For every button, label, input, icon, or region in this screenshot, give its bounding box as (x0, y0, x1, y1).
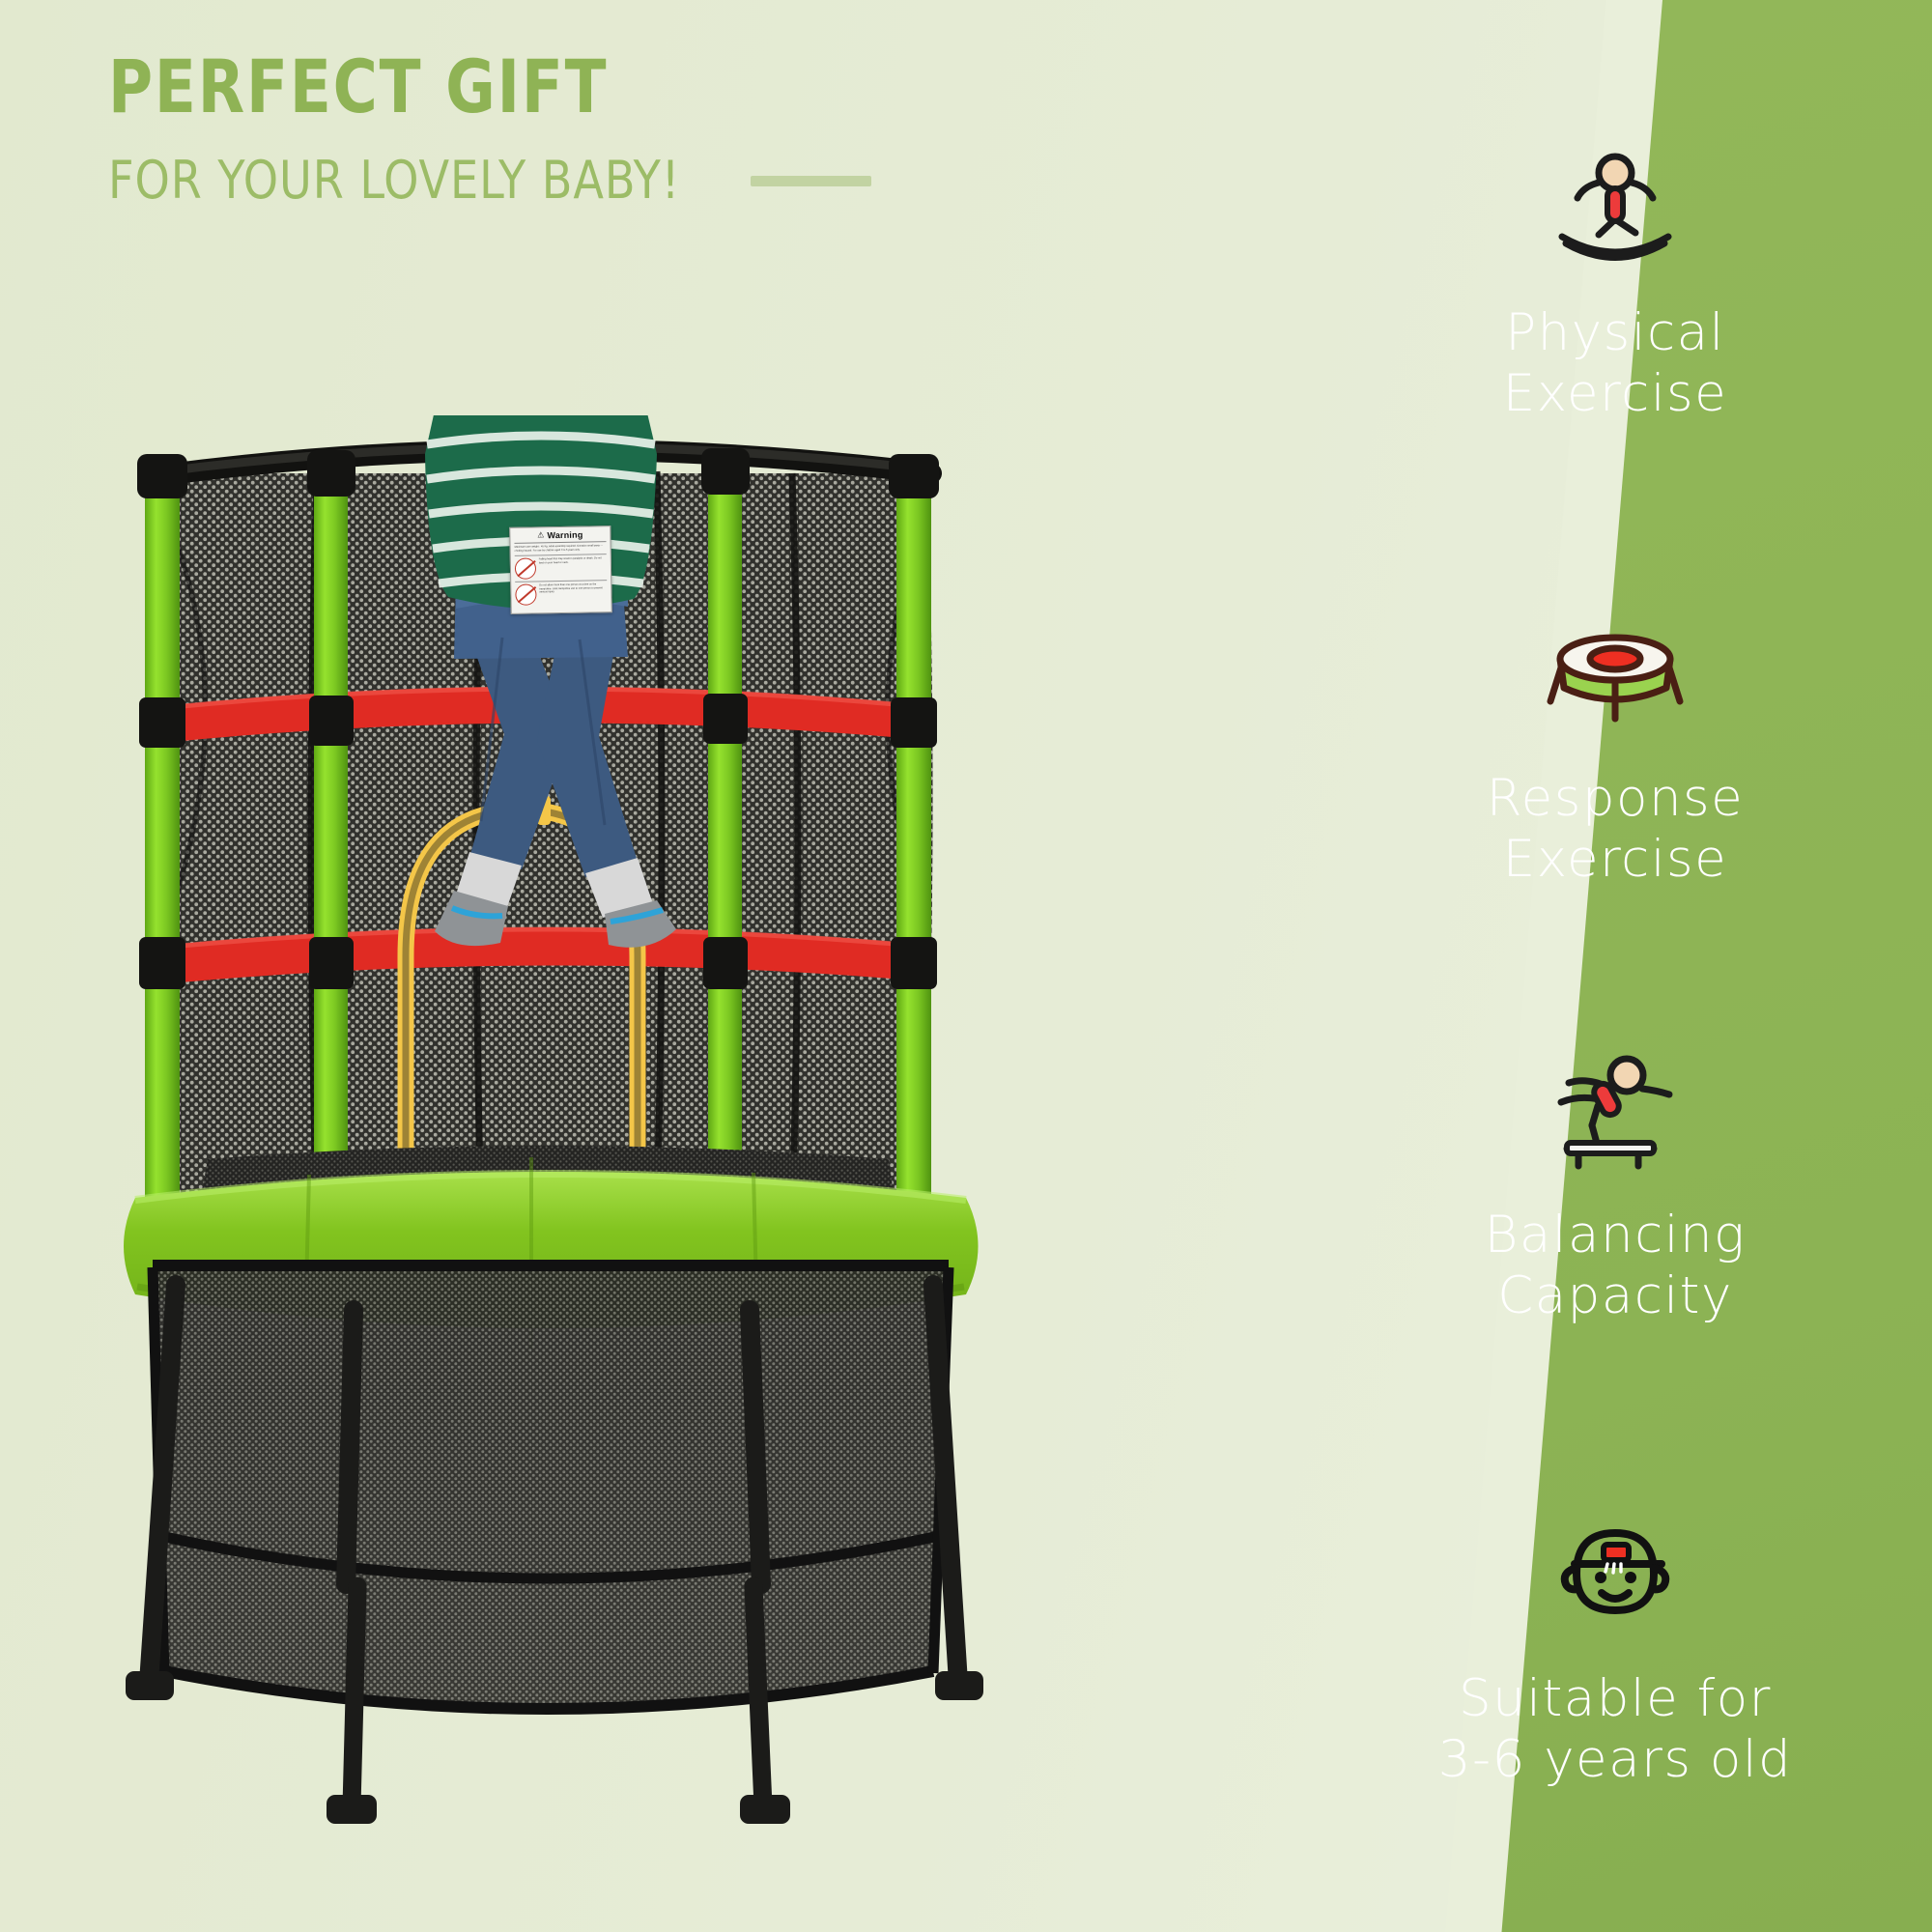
feature-label-line: Exercise (1503, 364, 1728, 425)
no-somersault-icon (515, 557, 536, 579)
feature-label-line: Suitable for (1438, 1669, 1792, 1730)
trampoline-top-view-icon (1543, 609, 1688, 744)
warning-label: ⚠ Warning Maximum user weight : 45 Kg. A… (509, 526, 612, 614)
feature-label: Suitable for 3-6 years old (1438, 1669, 1792, 1790)
feature-label: Response Exercise (1487, 769, 1745, 890)
warning-row-text: Do not allow more than one person at a t… (539, 582, 607, 605)
child-face-with-cap-icon (1548, 1509, 1683, 1644)
feature-label-line: Capacity (1485, 1266, 1747, 1327)
feature-label: Physical Exercise (1503, 303, 1728, 424)
feature-list: Physical Exercise Resp (1198, 0, 1932, 1932)
person-balancing-on-beam-icon (1538, 1045, 1692, 1180)
warning-label-header: ⚠ Warning (514, 529, 606, 544)
feature-label-line: Physical (1503, 303, 1728, 364)
feature-label-line: Response (1487, 769, 1745, 830)
warning-label-body: Maximum user weight : 45 Kg. Adult assem… (515, 544, 607, 553)
feature-label-line: Balancing (1485, 1206, 1747, 1266)
headline-title: PERFECT GIFT (108, 50, 810, 124)
no-multiple-users-icon (515, 583, 536, 605)
product-photo-trampoline: Homcom (116, 415, 1140, 1864)
feature-item-response-exercise: Response Exercise (1345, 609, 1886, 890)
child-jeans (454, 568, 638, 877)
headline-decorative-rule (751, 176, 871, 186)
headline-subtitle-row: FOR YOUR LOVELY BABY! (108, 155, 871, 207)
warning-row-text: Falling head-first may result in paralys… (539, 556, 607, 579)
feature-label-line: 3-6 years old (1438, 1730, 1792, 1791)
feature-label-line: Exercise (1487, 830, 1745, 891)
feature-item-physical-exercise: Physical Exercise (1345, 143, 1886, 424)
child-jumping-figure (116, 415, 1140, 1864)
warning-label-row: Falling head-first may result in paralys… (515, 554, 607, 580)
person-bouncing-on-trampoline-icon (1543, 143, 1688, 278)
feature-item-age-range: Suitable for 3-6 years old (1345, 1509, 1886, 1790)
headline-block: PERFECT GIFT FOR YOUR LOVELY BABY! (108, 50, 871, 207)
warning-label-row: Do not allow more than one person at a t… (515, 580, 607, 606)
headline-subtitle: FOR YOUR LOVELY BABY! (108, 155, 680, 207)
warning-label-heading: Warning (547, 530, 582, 541)
feature-item-balancing-capacity: Balancing Capacity (1345, 1045, 1886, 1326)
feature-label: Balancing Capacity (1485, 1206, 1747, 1326)
marketing-banner: PERFECT GIFT FOR YOUR LOVELY BABY! (0, 0, 1932, 1932)
warning-triangle-icon: ⚠ (537, 531, 544, 539)
